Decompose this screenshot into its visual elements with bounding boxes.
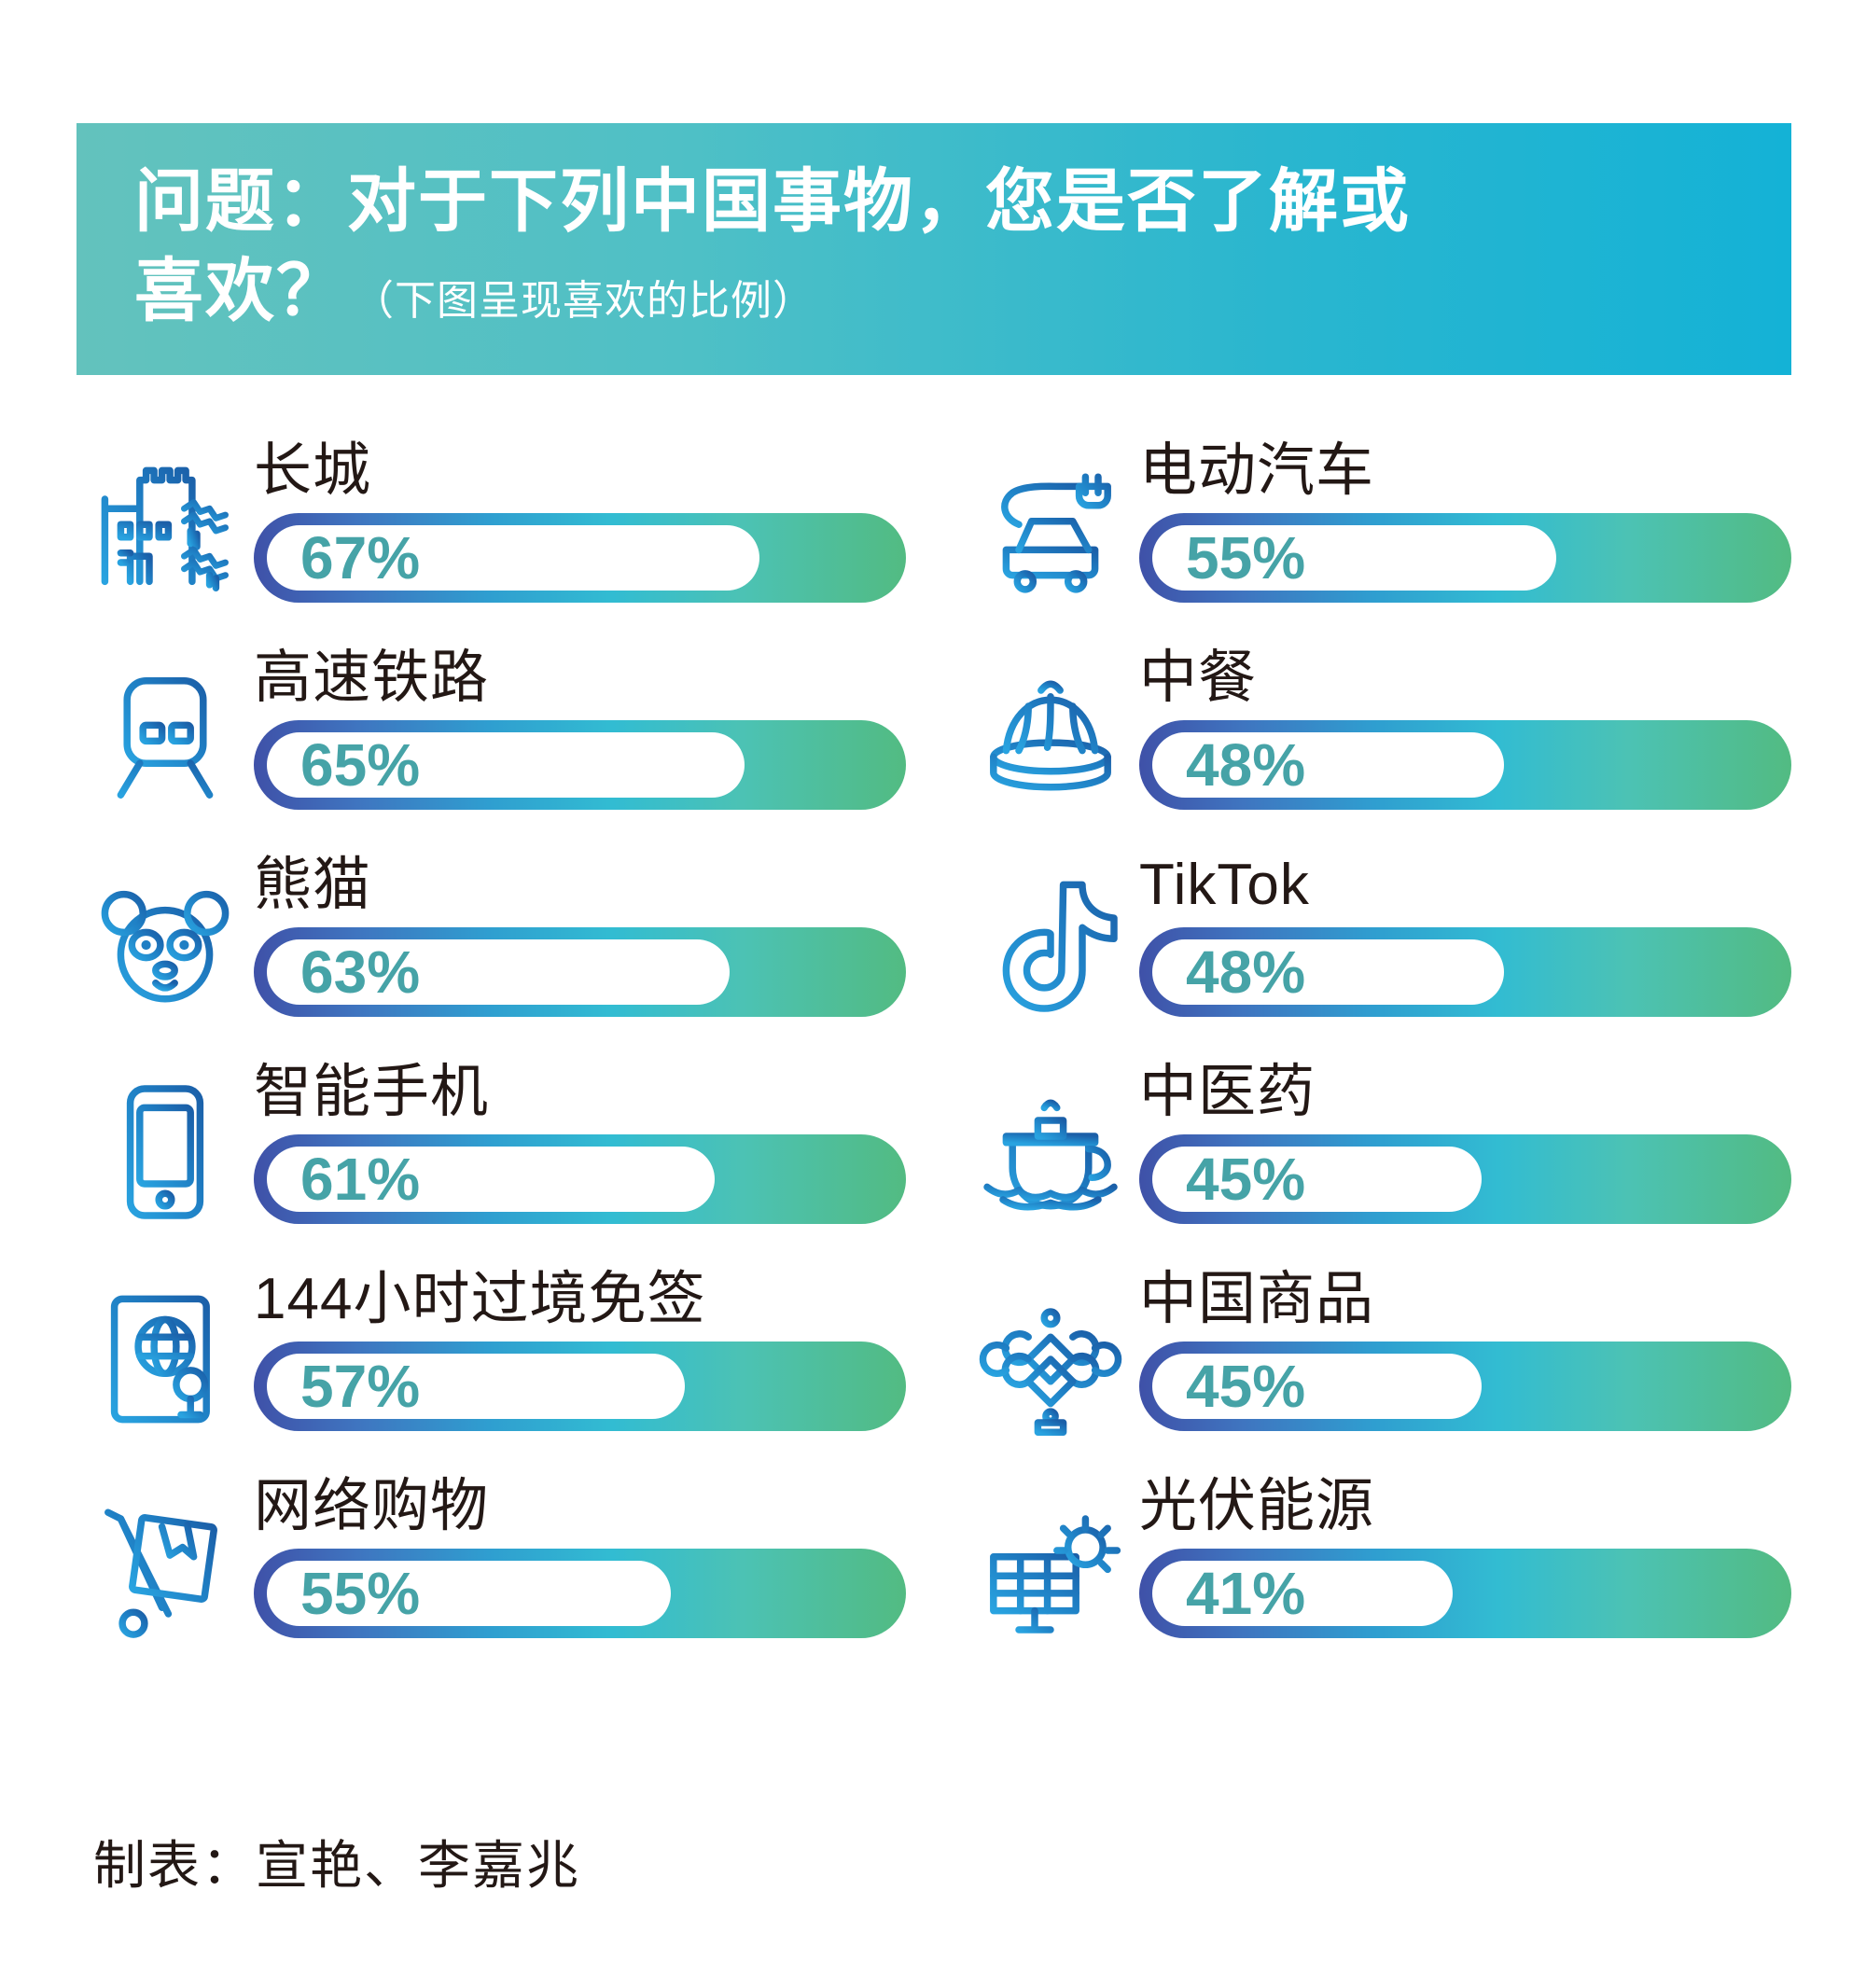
progress-bar-value: 41% xyxy=(1152,1561,1305,1626)
progress-bar-track: 65% xyxy=(254,720,906,810)
progress-bar-value: 48% xyxy=(1152,732,1305,798)
header-title-line2-wrap: 喜欢？ （下图呈现喜欢的比例） xyxy=(134,246,1748,346)
progress-bar-value: 55% xyxy=(267,1561,420,1626)
progress-bar-value: 67% xyxy=(267,525,420,591)
row-label: 中国商品 xyxy=(1139,1265,1791,1334)
row-body: 长城67% xyxy=(254,431,906,603)
row-label: 中医药 xyxy=(1139,1058,1791,1127)
infographic-page: 问题：对于下列中国事物，您是否了解或 喜欢？ （下图呈现喜欢的比例） 长城67%… xyxy=(0,0,1866,1988)
progress-bar-fill: 48% xyxy=(1152,939,1504,1005)
progress-bar-track: 61% xyxy=(254,1134,906,1224)
progress-bar-track: 57% xyxy=(254,1342,906,1431)
row-label: TikTok xyxy=(1139,851,1791,920)
row-body: 高速铁路65% xyxy=(254,638,906,810)
row-body: 中医药45% xyxy=(1139,1052,1791,1224)
chart-row: 中医药45% xyxy=(962,1052,1791,1259)
row-body: 144小时过境免签57% xyxy=(254,1259,906,1431)
row-label: 144小时过境免签 xyxy=(254,1265,906,1334)
parcel-cart-icon xyxy=(77,1467,254,1653)
chart-row: 电动汽车55% xyxy=(962,431,1791,638)
credit-line: 制表：宣艳、李嘉兆 xyxy=(93,1824,580,1899)
chart-row: 光伏能源41% xyxy=(962,1467,1791,1674)
progress-bar-fill: 48% xyxy=(1152,732,1504,798)
row-label: 熊猫 xyxy=(254,851,906,920)
progress-bar-track: 67% xyxy=(254,513,906,603)
row-label: 电动汽车 xyxy=(1139,437,1791,506)
progress-bar-fill: 65% xyxy=(267,732,745,798)
progress-bar-value: 45% xyxy=(1152,1354,1305,1419)
chinese-knot-icon xyxy=(962,1259,1139,1446)
progress-bar-fill: 57% xyxy=(267,1354,685,1419)
progress-bar-track: 45% xyxy=(1139,1342,1791,1431)
herbal-pot-icon xyxy=(962,1052,1139,1239)
progress-bar-fill: 67% xyxy=(267,525,759,591)
chart-row: 网络购物55% xyxy=(77,1467,906,1674)
row-body: 电动汽车55% xyxy=(1139,431,1791,603)
progress-bar-fill: 41% xyxy=(1152,1561,1453,1626)
chart-row: 熊猫63% xyxy=(77,845,906,1052)
row-label: 光伏能源 xyxy=(1139,1472,1791,1541)
progress-bar-fill: 55% xyxy=(1152,525,1556,591)
progress-bar-track: 41% xyxy=(1139,1549,1791,1638)
row-label: 中餐 xyxy=(1139,644,1791,713)
smartphone-icon xyxy=(77,1052,254,1239)
chart-row: 144小时过境免签57% xyxy=(77,1259,906,1467)
row-body: 中国商品45% xyxy=(1139,1259,1791,1431)
progress-bar-value: 55% xyxy=(1152,525,1305,591)
progress-bar-track: 63% xyxy=(254,927,906,1017)
chart-row: 高速铁路65% xyxy=(77,638,906,845)
progress-bar-value: 61% xyxy=(267,1147,420,1212)
progress-bar-value: 65% xyxy=(267,732,420,798)
progress-bar-track: 48% xyxy=(1139,927,1791,1017)
left-column: 长城67%高速铁路65%熊猫63%智能手机61%144小时过境免签57%网络购物… xyxy=(77,431,906,1674)
header-title-line2: 喜欢？ xyxy=(134,246,347,336)
progress-bar-fill: 45% xyxy=(1152,1354,1482,1419)
chart-grid: 长城67%高速铁路65%熊猫63%智能手机61%144小时过境免签57%网络购物… xyxy=(77,431,1791,1674)
progress-bar-fill: 45% xyxy=(1152,1147,1482,1212)
chart-row: 中国商品45% xyxy=(962,1259,1791,1467)
chart-row: TikTok48% xyxy=(962,845,1791,1052)
header-title-line1: 问题：对于下列中国事物，您是否了解或 xyxy=(134,157,1748,246)
progress-bar-track: 55% xyxy=(254,1549,906,1638)
great-wall-icon xyxy=(77,431,254,618)
row-body: 中餐48% xyxy=(1139,638,1791,810)
row-label: 高速铁路 xyxy=(254,644,906,713)
progress-bar-fill: 61% xyxy=(267,1147,715,1212)
header-subtitle: （下图呈现喜欢的比例） xyxy=(353,257,815,346)
header-banner: 问题：对于下列中国事物，您是否了解或 喜欢？ （下图呈现喜欢的比例） xyxy=(77,123,1791,375)
progress-bar-fill: 55% xyxy=(267,1561,671,1626)
chart-row: 中餐48% xyxy=(962,638,1791,845)
panda-icon xyxy=(77,845,254,1032)
tiktok-icon xyxy=(962,845,1139,1032)
progress-bar-value: 45% xyxy=(1152,1147,1305,1212)
chart-row: 智能手机61% xyxy=(77,1052,906,1259)
progress-bar-track: 48% xyxy=(1139,720,1791,810)
train-icon xyxy=(77,638,254,825)
progress-bar-value: 63% xyxy=(267,939,420,1005)
row-label: 网络购物 xyxy=(254,1472,906,1541)
chart-row: 长城67% xyxy=(77,431,906,638)
row-body: 熊猫63% xyxy=(254,845,906,1017)
progress-bar-value: 57% xyxy=(267,1354,420,1419)
progress-bar-fill: 63% xyxy=(267,939,730,1005)
row-label: 长城 xyxy=(254,437,906,506)
row-body: 光伏能源41% xyxy=(1139,1467,1791,1638)
visa-passport-icon xyxy=(77,1259,254,1446)
row-label: 智能手机 xyxy=(254,1058,906,1127)
row-body: 网络购物55% xyxy=(254,1467,906,1638)
right-column: 电动汽车55%中餐48%TikTok48%中医药45%中国商品45%光伏能源41… xyxy=(962,431,1791,1674)
solar-panel-icon xyxy=(962,1467,1139,1653)
progress-bar-track: 45% xyxy=(1139,1134,1791,1224)
row-body: TikTok48% xyxy=(1139,845,1791,1017)
progress-bar-track: 55% xyxy=(1139,513,1791,603)
dumpling-icon xyxy=(962,638,1139,825)
row-body: 智能手机61% xyxy=(254,1052,906,1224)
electric-car-icon xyxy=(962,431,1139,618)
progress-bar-value: 48% xyxy=(1152,939,1305,1005)
